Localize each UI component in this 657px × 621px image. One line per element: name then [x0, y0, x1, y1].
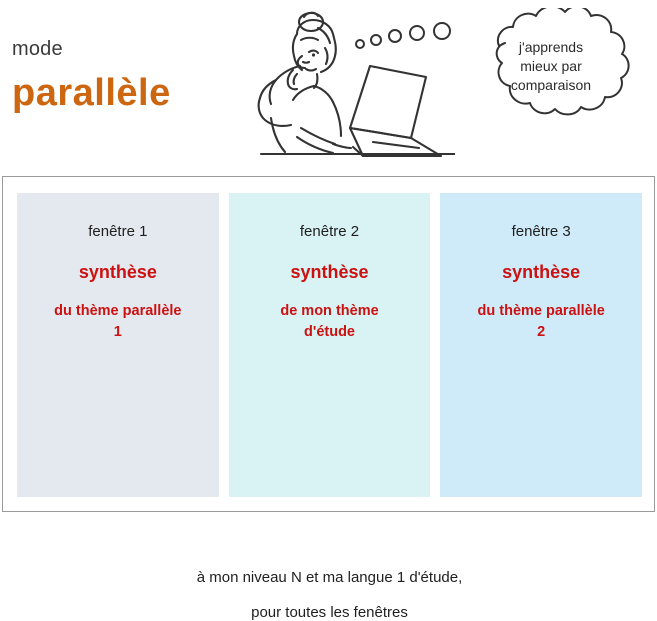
thought-dots-icon — [352, 22, 462, 62]
header: mode parallèle — [0, 0, 657, 175]
window-column-2: fenêtre 2 synthèse de mon thème d'étude — [229, 193, 431, 497]
window-1-heading: synthèse — [17, 262, 219, 283]
thought-bubble-line3: comparaison — [455, 76, 647, 95]
thought-bubble-line1: j'apprends — [455, 38, 647, 57]
windows-columns: fenêtre 1 synthèse du thème parallèle 1 … — [17, 193, 642, 497]
diagram-page: mode parallèle — [0, 0, 657, 515]
window-1-title: fenêtre 1 — [17, 223, 219, 240]
window-1-subtitle-line1: du thème parallèle — [23, 301, 213, 322]
footer-line-2: pour toutes les fenêtres — [17, 604, 642, 621]
thought-bubble: j'apprends mieux par comparaison — [455, 8, 647, 116]
window-2-subtitle-line1: de mon thème — [235, 301, 425, 322]
window-2-heading: synthèse — [229, 262, 431, 283]
window-3-subtitle: du thème parallèle 2 — [440, 301, 642, 343]
mode-label: mode — [12, 38, 63, 61]
window-3-subtitle-line1: du thème parallèle — [446, 301, 636, 322]
window-column-1: fenêtre 1 synthèse du thème parallèle 1 — [17, 193, 219, 497]
window-1-subtitle-line2: 1 — [23, 322, 213, 343]
panel-footer: à mon niveau N et ma langue 1 d'étude, p… — [17, 569, 642, 621]
mode-title: parallèle — [12, 72, 171, 115]
window-2-subtitle-line2: d'étude — [235, 322, 425, 343]
thought-bubble-text: j'apprends mieux par comparaison — [455, 38, 647, 95]
window-1-subtitle: du thème parallèle 1 — [17, 301, 219, 343]
window-2-subtitle: de mon thème d'étude — [229, 301, 431, 343]
window-2-title: fenêtre 2 — [229, 223, 431, 240]
thought-bubble-line2: mieux par — [455, 57, 647, 76]
footer-line-1: à mon niveau N et ma langue 1 d'étude, — [17, 569, 642, 586]
window-3-subtitle-line2: 2 — [446, 322, 636, 343]
window-3-title: fenêtre 3 — [440, 223, 642, 240]
window-3-heading: synthèse — [440, 262, 642, 283]
window-column-3: fenêtre 3 synthèse du thème parallèle 2 — [440, 193, 642, 497]
main-panel: fenêtre 1 synthèse du thème parallèle 1 … — [2, 176, 655, 512]
